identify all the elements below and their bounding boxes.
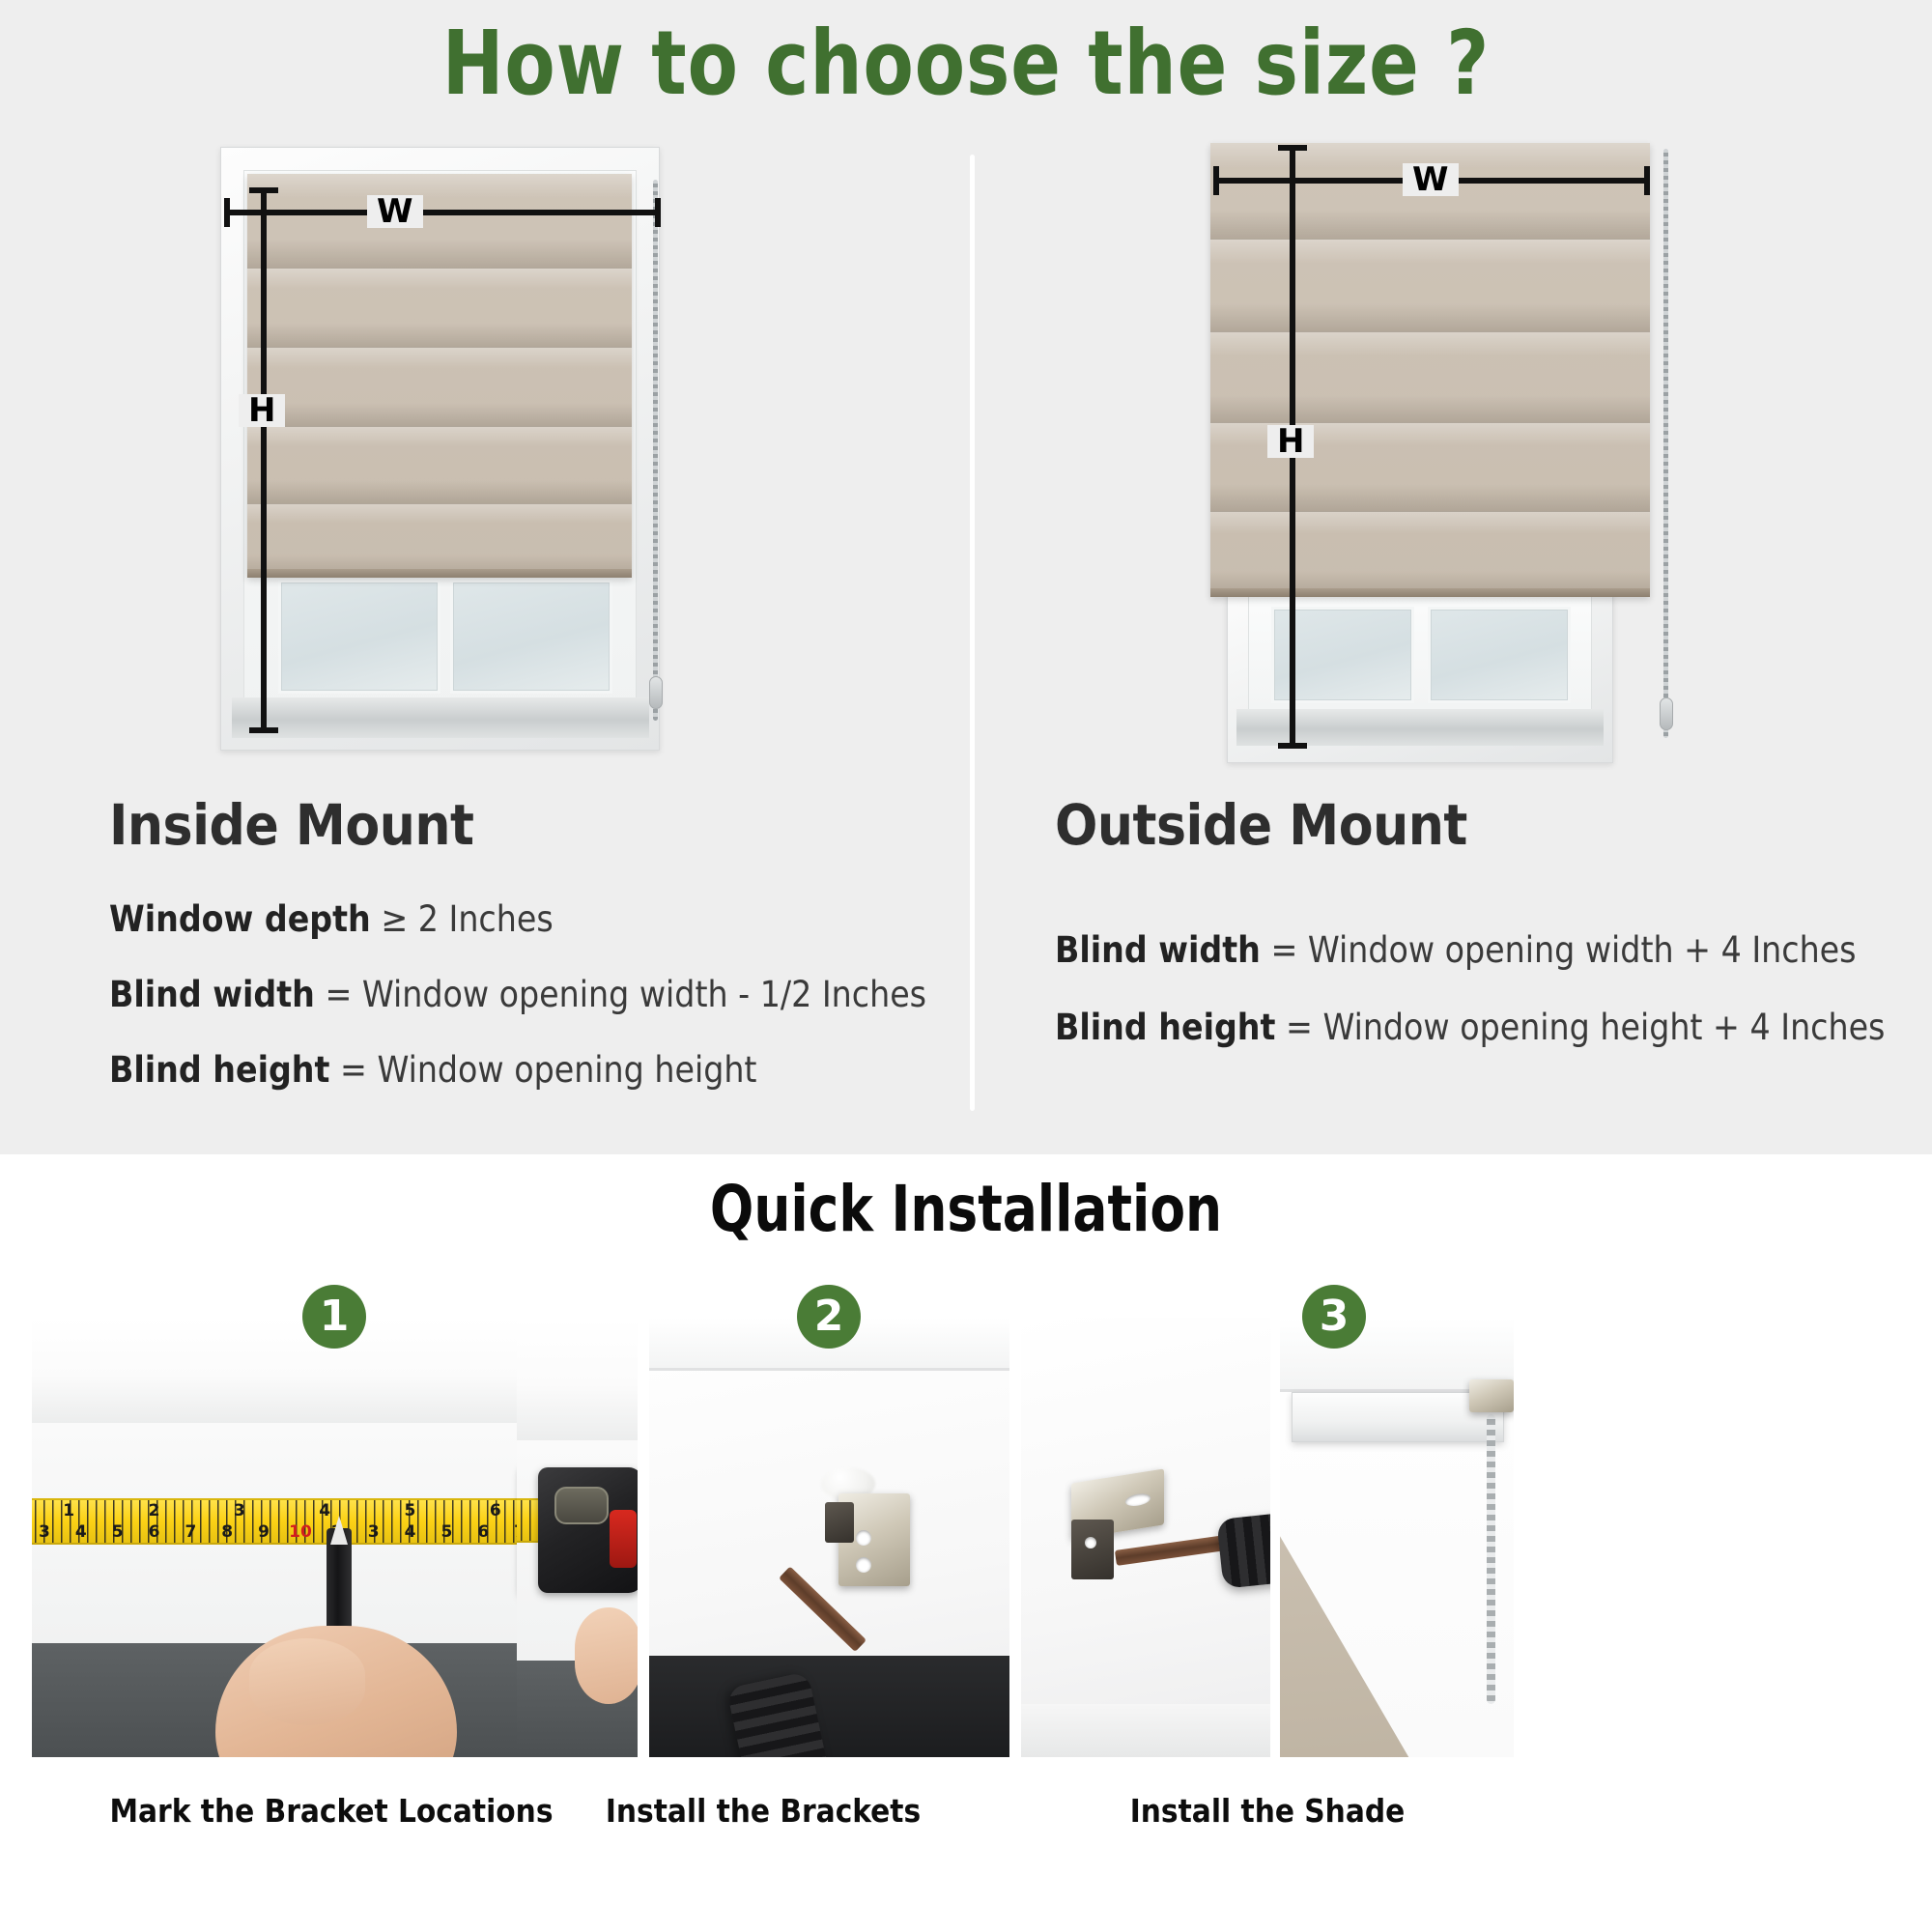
step-caption-3: Install the Shade xyxy=(1021,1792,1514,1830)
tape-metric-12: 5 xyxy=(428,1522,465,1542)
roman-shade-outside xyxy=(1210,143,1650,597)
step-badge-1: 1 xyxy=(302,1285,366,1349)
tape-measure-blade: 1 2 3 4 5 6 3 4 5 6 7 8 9 xyxy=(32,1498,538,1545)
tape-metric-4: 6 xyxy=(136,1522,173,1542)
step-photo-3 xyxy=(1021,1318,1514,1757)
photo-install-shade xyxy=(1280,1318,1514,1757)
installation-title: Quick Installation xyxy=(97,1172,1835,1246)
outside-spec-key-2: Blind height xyxy=(1055,1007,1275,1048)
tape-metric-10: 3 xyxy=(355,1522,392,1542)
pencil-tip xyxy=(330,1516,348,1545)
photo-gutter-2 xyxy=(638,1318,649,1757)
bead-chain-3 xyxy=(1487,1414,1495,1704)
tape-imperial-3: 3 xyxy=(197,1501,282,1520)
molding-2 xyxy=(517,1318,638,1440)
pull-chain-outside xyxy=(1663,149,1668,738)
window-sill-inside xyxy=(232,697,649,738)
outside-spec-value-1: = Window opening width + 4 Inches xyxy=(1270,929,1856,971)
tape-grip-2 xyxy=(610,1510,637,1568)
page-title: How to choose the size ? xyxy=(77,12,1855,115)
tape-metric-2: 4 xyxy=(63,1522,99,1542)
inside-spec-key-1: Window depth xyxy=(109,898,371,940)
chain-weight-inside xyxy=(649,676,663,709)
outside-mount-heading: Outside Mount xyxy=(1055,792,1467,858)
bracket-clip-3 xyxy=(1071,1520,1114,1579)
tape-metric-1: 3 xyxy=(32,1522,63,1542)
inside-spec-key-3: Blind height xyxy=(109,1049,329,1091)
finger-2 xyxy=(575,1607,638,1704)
tape-case-2 xyxy=(538,1467,638,1593)
width-label-inside: W xyxy=(367,195,423,228)
inside-spec-value-1: ≥ 2 Inches xyxy=(381,898,553,940)
tape-lock-icon-2 xyxy=(554,1487,609,1524)
height-cap-bottom-outside xyxy=(1278,743,1307,749)
height-label-inside: H xyxy=(239,394,285,427)
bracket-screw-hole-3 xyxy=(1085,1537,1096,1548)
width-label-outside: W xyxy=(1403,163,1459,196)
tape-imperial-5: 5 xyxy=(367,1501,452,1520)
roman-shade-inside xyxy=(247,174,632,578)
photo-3-bracket-detail xyxy=(1021,1318,1270,1757)
pull-chain-inside xyxy=(653,180,658,721)
height-cap-bottom-inside xyxy=(249,727,278,733)
baseboard-3 xyxy=(1021,1704,1270,1757)
dark-floor-2 xyxy=(649,1656,1009,1757)
inside-mount-heading: Inside Mount xyxy=(109,792,473,858)
outside-spec-row-1: Blind width = Window opening width + 4 I… xyxy=(1055,929,1857,971)
width-cap-right-inside xyxy=(655,198,661,227)
inside-spec-row-2: Blind width = Window opening width - 1/2… xyxy=(109,974,926,1015)
tape-metric-6: 8 xyxy=(209,1522,245,1542)
tape-metric-8: 10 xyxy=(282,1522,319,1542)
step-badge-2: 2 xyxy=(797,1285,861,1349)
inside-spec-value-3: = Window opening height xyxy=(340,1049,756,1091)
glass-pane-right xyxy=(450,580,612,694)
bracket-screw-hole-1 xyxy=(856,1530,871,1546)
inside-spec-row-1: Window depth ≥ 2 Inches xyxy=(109,898,554,940)
installed-bracket-3 xyxy=(1469,1379,1514,1412)
tape-metric-5: 7 xyxy=(172,1522,209,1542)
glass-pane-left xyxy=(278,580,440,694)
width-line-inside xyxy=(224,210,661,215)
installation-panel: Quick Installation 1 1 2 3 4 5 xyxy=(0,1154,1932,1932)
inside-spec-key-2: Blind width xyxy=(109,974,315,1015)
thumb xyxy=(249,1638,365,1725)
tape-imperial-4: 4 xyxy=(282,1501,367,1520)
outside-spec-key-1: Blind width xyxy=(1055,929,1261,971)
height-label-outside: H xyxy=(1267,425,1314,458)
screwdriver-handle-3 xyxy=(1216,1512,1270,1589)
sizing-guide-panel: How to choose the size ? W H Inside xyxy=(0,0,1932,1154)
glass-pane-right-outside xyxy=(1428,607,1571,703)
height-line-inside xyxy=(261,187,267,733)
column-divider xyxy=(970,155,975,1111)
photo-install-brackets xyxy=(649,1318,1009,1757)
bracket-slot-3 xyxy=(1125,1492,1151,1507)
inside-spec-row-3: Blind height = Window opening height xyxy=(109,1049,756,1091)
photo-gutter-3 xyxy=(1270,1318,1280,1757)
outside-spec-row-2: Blind height = Window opening height + 4… xyxy=(1055,1007,1885,1048)
step-photo-2 xyxy=(517,1318,1009,1757)
tape-metric-7: 9 xyxy=(245,1522,282,1542)
tape-imperial-2: 2 xyxy=(111,1501,196,1520)
chain-weight-outside xyxy=(1660,697,1673,730)
step-badge-3: 3 xyxy=(1302,1285,1366,1349)
tape-imperial-1: 1 xyxy=(32,1501,111,1520)
outside-spec-value-2: = Window opening height + 4 Inches xyxy=(1286,1007,1885,1048)
tape-metric-3: 5 xyxy=(99,1522,136,1542)
inside-spec-value-2: = Window opening width - 1/2 Inches xyxy=(325,974,926,1015)
tape-metric-13: 6 xyxy=(465,1522,501,1542)
photo-2-left-sliver xyxy=(517,1318,638,1757)
bracket-clip-2 xyxy=(825,1502,854,1543)
step-caption-2: Install the Brackets xyxy=(517,1792,1009,1830)
bracket-screw-hole-2 xyxy=(856,1557,871,1573)
width-cap-right-outside xyxy=(1644,166,1650,195)
tape-metric-11: 4 xyxy=(392,1522,429,1542)
